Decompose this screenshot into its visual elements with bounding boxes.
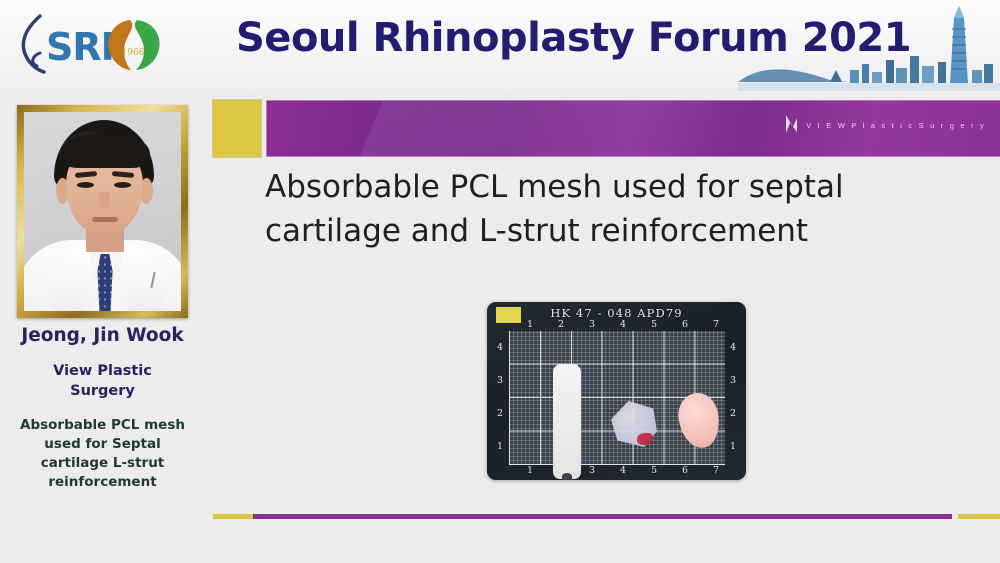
ruler-xb-2: 2 [558, 465, 564, 476]
ruler-x-5: 5 [651, 319, 657, 330]
ruler-x-2: 2 [558, 319, 564, 330]
ruler-yr-2: 2 [730, 408, 736, 419]
speaker-panel: Jeong, Jin Wook View Plastic Surgery Abs… [0, 93, 205, 563]
ruler-y-3: 3 [497, 375, 503, 386]
speaker-name: Jeong, Jin Wook [0, 325, 205, 346]
portrait-mouth [92, 217, 118, 222]
seoul-skyline-icon [738, 0, 1000, 93]
slide-header-band: V I E W P l a s t i c S u r g e r y [266, 100, 1000, 157]
ruler-y-1: 1 [497, 441, 503, 452]
portrait-fringe [60, 134, 150, 168]
pcl-mesh-strip [553, 364, 581, 479]
slide-accent-block-yellow [213, 100, 261, 157]
speaker-portrait-frame [17, 105, 188, 318]
ruler-y-2: 2 [497, 408, 503, 419]
speaker-affiliation: View Plastic Surgery [0, 361, 205, 401]
cartilage-blood-spot [637, 433, 653, 445]
presentation-viewer: SRF 1966 Seoul Rhinoplasty Forum 2021 [0, 0, 1000, 563]
event-header: SRF 1966 Seoul Rhinoplasty Forum 2021 [0, 0, 1000, 93]
srf-logo: SRF 1966 [10, 8, 195, 80]
slide-footer-accent-left [213, 514, 253, 519]
speaker-topic: Absorbable PCL mesh used for Septal cart… [0, 416, 205, 492]
slide-footer-rule [253, 514, 952, 519]
ruler-xb-3: 3 [589, 465, 595, 476]
ruler-xb-6: 6 [682, 465, 688, 476]
ruler-yr-1: 1 [730, 441, 736, 452]
slide-canvas: V I E W P l a s t i c S u r g e r y Abso… [205, 93, 1000, 563]
ruler-x-7: 7 [713, 319, 719, 330]
portrait-eye-left [77, 182, 94, 188]
view-checkmark-icon [784, 114, 799, 136]
ruler-x-3: 3 [589, 319, 595, 330]
view-plastic-surgery-logo: V I E W P l a s t i c S u r g e r y [784, 114, 986, 136]
ruler-xb-1: 1 [527, 465, 533, 476]
ruler-xb-4: 4 [620, 465, 626, 476]
ruler-yr-4: 4 [730, 342, 736, 353]
ruler-y-4: 4 [497, 342, 503, 353]
svg-text:1966: 1966 [122, 48, 145, 58]
ruler-xb-7: 7 [713, 465, 719, 476]
avatar [24, 112, 181, 311]
ruler-x-1: 1 [527, 319, 533, 330]
slide-footer-accent-right [958, 514, 1000, 519]
ruler-yr-3: 3 [730, 375, 736, 386]
ruler-x-4: 4 [620, 319, 626, 330]
slide-title: Absorbable PCL mesh used for septal cart… [265, 165, 965, 253]
portrait-eye-right [114, 182, 131, 188]
portrait-nose [99, 192, 110, 210]
photo-measuring-grid [509, 331, 725, 465]
ruler-x-6: 6 [682, 319, 688, 330]
view-logo-label: V I E W P l a s t i c S u r g e r y [806, 121, 986, 130]
specimen-photo: HK 47 - 048 APD79 1 2 3 4 5 6 7 1 2 3 4 … [487, 302, 746, 480]
photo-label: HK 47 - 048 APD79 [487, 306, 746, 320]
ruler-xb-5: 5 [651, 465, 657, 476]
